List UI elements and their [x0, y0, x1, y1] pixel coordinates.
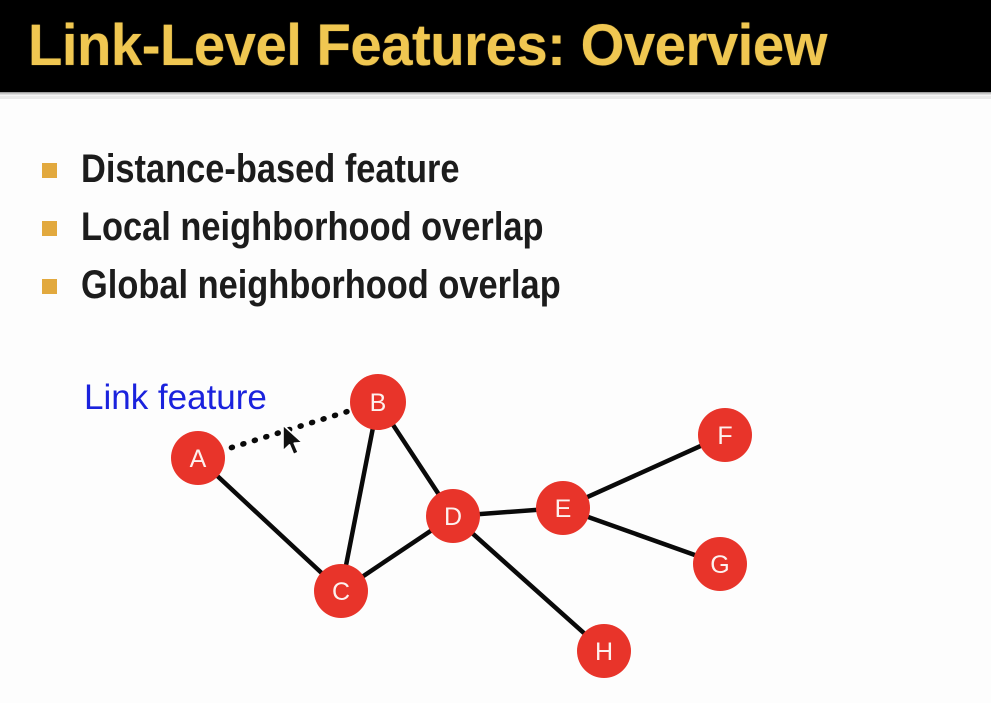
graph-edge-a-c — [215, 474, 324, 576]
node-label-b: B — [370, 389, 387, 417]
bullet-item-label: Local neighborhood overlap — [81, 201, 544, 253]
square-bullet-icon — [42, 221, 57, 236]
bullet-list: Distance-based feature Local neighborhoo… — [42, 143, 742, 317]
graph-edge-e-f — [584, 444, 704, 498]
graph-edge-c-d — [360, 529, 434, 578]
square-bullet-icon — [42, 163, 57, 178]
list-item: Local neighborhood overlap — [42, 201, 742, 259]
bullet-item-label: Global neighborhood overlap — [81, 259, 561, 311]
graph-edge-d-e — [476, 510, 540, 515]
graph-node-c[interactable]: C — [314, 564, 368, 618]
node-label-d: D — [444, 503, 462, 531]
link-feature-annotation: Link feature — [84, 378, 267, 418]
title-divider-shadow — [0, 96, 991, 99]
mouse-pointer-icon — [281, 424, 307, 458]
graph-diagram: ABCDEFGH Link feature — [0, 330, 991, 703]
graph-edge-e-g — [585, 516, 699, 557]
bullet-item-label: Distance-based feature — [81, 143, 460, 195]
square-bullet-icon — [42, 279, 57, 294]
graph-edge-d-h — [470, 531, 587, 635]
graph-node-g[interactable]: G — [693, 537, 747, 591]
node-label-e: E — [555, 495, 572, 523]
graph-nodes: ABCDEFGH — [171, 374, 752, 678]
node-label-c: C — [332, 578, 350, 606]
node-label-h: H — [595, 638, 613, 666]
slide-canvas: Link-Level Features: Overview Distance-b… — [0, 0, 991, 703]
node-label-a: A — [190, 445, 207, 473]
graph-edge-b-d — [391, 422, 440, 497]
graph-edge-b-c — [345, 426, 373, 569]
list-item: Global neighborhood overlap — [42, 259, 742, 317]
graph-node-f[interactable]: F — [698, 408, 752, 462]
graph-node-a[interactable]: A — [171, 431, 225, 485]
title-bar: Link-Level Features: Overview — [0, 0, 991, 92]
graph-node-d[interactable]: D — [426, 489, 480, 543]
node-label-g: G — [710, 551, 729, 579]
graph-node-h[interactable]: H — [577, 624, 631, 678]
graph-node-e[interactable]: E — [536, 481, 590, 535]
list-item: Distance-based feature — [42, 143, 742, 201]
node-label-f: F — [717, 422, 732, 450]
page-title: Link-Level Features: Overview — [28, 8, 827, 84]
graph-node-b[interactable]: B — [350, 374, 406, 430]
